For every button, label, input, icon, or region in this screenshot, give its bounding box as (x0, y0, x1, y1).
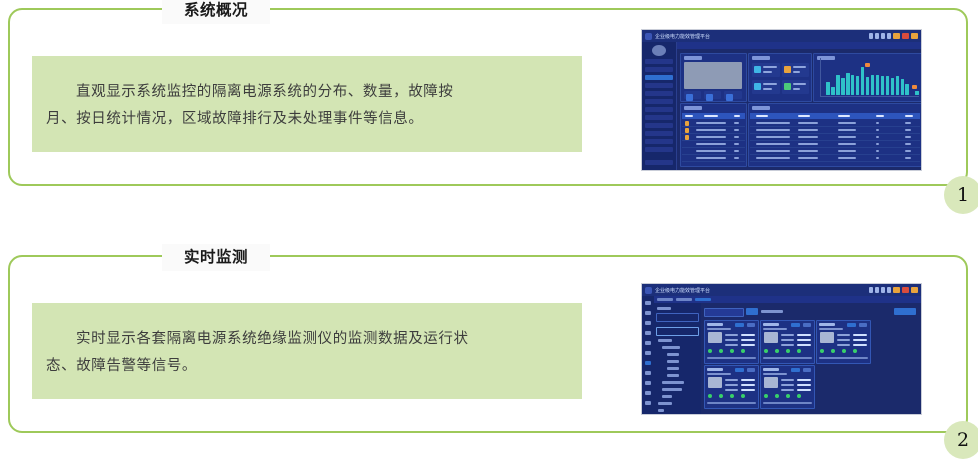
sidebar-item (645, 67, 673, 72)
device-card[interactable] (760, 320, 815, 364)
refresh-icon (875, 287, 879, 293)
description-line: 直观显示系统监控的隔离电源系统的分布、数量，故障按 (46, 79, 568, 106)
status-led (820, 349, 824, 353)
thumb1-area-fault-ranking (680, 103, 747, 167)
sidebar-item (645, 147, 673, 152)
device-thumbnail-icon (708, 377, 722, 388)
sidebar-item-active (645, 75, 673, 80)
status-led (831, 349, 835, 353)
description-line: 实时显示各套隔离电源系统绝缘监测仪的监测数据及运行状 (46, 326, 568, 353)
status-led (786, 394, 790, 398)
status-led (764, 349, 768, 353)
search-icon (869, 287, 873, 293)
status-led (719, 349, 723, 353)
sidebar-item (645, 59, 673, 64)
thumb1-unhandled-events-table (748, 103, 922, 167)
kpi-tile (782, 63, 809, 77)
alert-badge-notice-icon (911, 287, 918, 293)
card-title-system-overview: 系统概况 (162, 0, 270, 24)
chart-x-axis (821, 96, 919, 97)
status-led (719, 394, 723, 398)
status-led (764, 394, 768, 398)
thumb1-overview-panel (680, 53, 747, 102)
sidebar-item (645, 123, 673, 128)
card-number-badge-1: 1 (944, 176, 978, 214)
description-panel-realtime-monitoring: 实时显示各套隔离电源系统绝缘监测仪的监测数据及运行状 态、故障告警等信号。 (32, 303, 582, 399)
status-led (775, 349, 779, 353)
status-led (708, 394, 712, 398)
warning-icon (685, 121, 689, 126)
device-thumbnail-icon (764, 377, 778, 388)
thumb2-filter-toggle[interactable] (746, 308, 758, 315)
table-row (750, 155, 920, 162)
table-row (750, 148, 920, 155)
alert-badge-warning-icon (893, 287, 900, 293)
sidebar-item (645, 170, 673, 171)
sidebar-item (645, 83, 673, 88)
thumb2-filter-label (761, 310, 783, 313)
warning-icon (784, 66, 791, 73)
device-card[interactable] (704, 320, 759, 364)
kpi-chip (704, 91, 721, 99)
sidebar-item (645, 160, 673, 165)
device-icon (754, 83, 761, 90)
alert-badge-danger-icon (902, 287, 909, 293)
device-card[interactable] (760, 365, 815, 409)
status-led (741, 349, 745, 353)
status-led (853, 349, 857, 353)
thumb1-fault-statistics-chart (813, 53, 922, 102)
chart-peak-marker (912, 85, 917, 89)
table-row (682, 148, 745, 155)
table-row (682, 134, 745, 141)
thumb1-menu-bar (677, 42, 921, 49)
chart-bars (821, 63, 919, 95)
thumb1-toolbar-icons (869, 33, 918, 39)
panel-heading (752, 56, 770, 60)
kpi-tile (782, 80, 809, 94)
description-line: 态、故障告警等信号。 (46, 353, 568, 380)
table-row (750, 120, 920, 127)
kpi-chip (684, 91, 701, 99)
alert-badge-notice-icon (911, 33, 918, 39)
card-number-badge-2: 2 (944, 421, 978, 459)
sidebar-item (645, 115, 673, 120)
alert-badge-danger-icon (902, 33, 909, 39)
alert-badge-warning-icon (893, 33, 900, 39)
thumb1-app-logo-icon (645, 33, 652, 40)
description-line: 月、按日统计情况，区域故障排行及未处理事件等信息。 (46, 106, 568, 133)
card-title-realtime-monitoring: 实时监测 (162, 244, 270, 271)
panel-heading (684, 56, 702, 60)
thumb2-icon-rail (642, 296, 654, 414)
monitor-icon (881, 287, 885, 293)
status-led (786, 349, 790, 353)
thumb2-device-tree[interactable] (654, 303, 701, 414)
tree-selected-node[interactable] (656, 327, 699, 336)
table-row (682, 127, 745, 134)
thumb2-filter-input[interactable] (704, 308, 744, 317)
avatar (652, 45, 666, 56)
table-row (750, 134, 920, 141)
slide-page: 系统概况 直观显示系统监控的隔离电源系统的分布、数量，故障按 月、按日统计情况，… (0, 0, 978, 458)
screenshot-thumbnail-system-overview[interactable]: 企业级电力能效管理平台 (641, 29, 922, 171)
sidebar-item (645, 91, 673, 96)
refresh-icon (875, 33, 879, 39)
thumb2-action-button[interactable] (894, 308, 916, 315)
device-icon (754, 66, 761, 73)
device-card[interactable] (704, 365, 759, 409)
table-row (682, 141, 745, 148)
thumb2-toolbar-icons (869, 287, 918, 293)
device-thumbnail-icon (764, 332, 778, 343)
thumb1-app-title: 企业级电力能效管理平台 (655, 33, 710, 40)
warning-icon (685, 128, 689, 133)
chart-peak-marker (865, 63, 870, 67)
thumb2-menu-bar (654, 296, 921, 303)
panel-heading (684, 106, 702, 110)
description-panel-system-overview: 直观显示系统监控的隔离电源系统的分布、数量，故障按 月、按日统计情况，区域故障排… (32, 56, 582, 152)
device-thumbnail-icon (708, 332, 722, 343)
sidebar-item (645, 99, 673, 104)
room-photo (684, 62, 742, 89)
device-thumbnail-icon (820, 332, 834, 343)
table-header (750, 113, 920, 119)
screenshot-thumbnail-realtime-monitoring[interactable]: 企业级电力能效管理平台 (641, 283, 922, 415)
status-led (797, 394, 801, 398)
thumb1-topbar: 企业级电力能效管理平台 (642, 30, 921, 42)
table-row (682, 120, 745, 127)
kpi-tile (752, 80, 780, 94)
tree-search-input[interactable] (656, 313, 699, 322)
sidebar-item (645, 139, 673, 144)
thumb1-device-status-panel (748, 53, 812, 102)
thumb2-app-title: 企业级电力能效管理平台 (655, 287, 710, 294)
thumb2-topbar: 企业级电力能效管理平台 (642, 284, 921, 296)
status-led (730, 349, 734, 353)
sidebar-item (645, 107, 673, 112)
table-row (750, 141, 920, 148)
table-row (682, 155, 745, 162)
thumb1-sidebar (642, 42, 677, 170)
status-led (842, 349, 846, 353)
status-led (708, 349, 712, 353)
thumb2-app-logo-icon (645, 287, 652, 294)
status-led (741, 394, 745, 398)
online-icon (784, 83, 791, 90)
warning-icon (685, 135, 689, 140)
monitor-icon (881, 33, 885, 39)
status-led (775, 394, 779, 398)
grid-icon (887, 33, 891, 39)
status-led (730, 394, 734, 398)
sidebar-item (645, 131, 673, 136)
table-row (750, 127, 920, 134)
search-icon (869, 33, 873, 39)
grid-icon (887, 287, 891, 293)
kpi-chip (724, 91, 742, 99)
status-led (797, 349, 801, 353)
device-card[interactable] (816, 320, 871, 364)
panel-heading (752, 106, 770, 110)
kpi-tile (752, 63, 780, 77)
table-header (682, 113, 745, 119)
